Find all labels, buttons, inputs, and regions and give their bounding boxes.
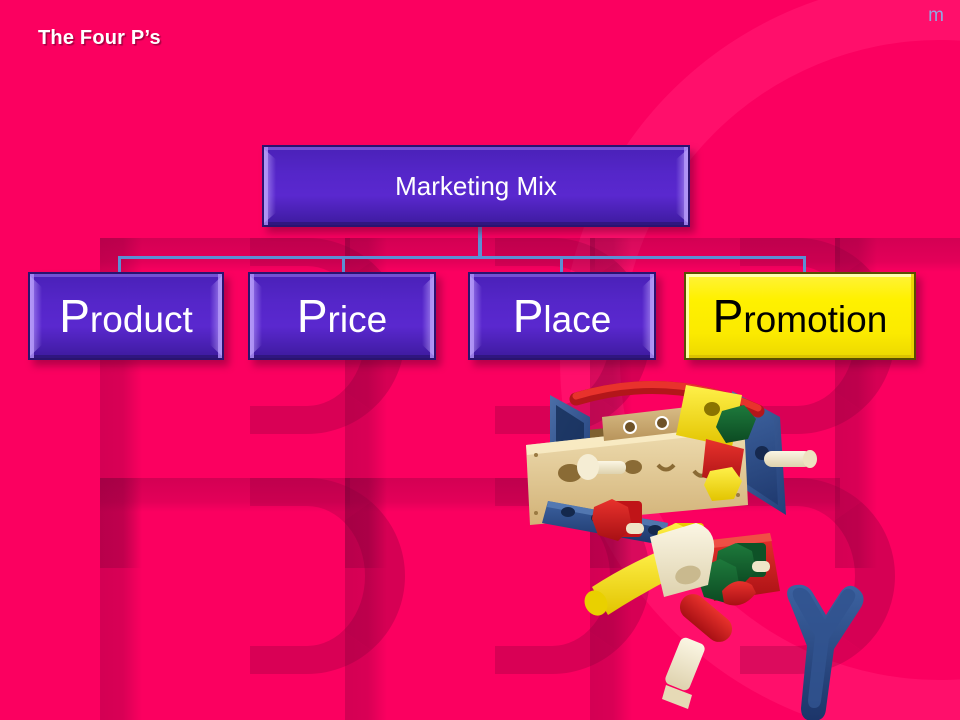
toy-screwdriver — [662, 581, 756, 709]
page-marker: m — [928, 6, 944, 25]
green-bolt — [698, 543, 770, 603]
node-product-label: Product — [59, 293, 193, 339]
toy-toolbox-illustration — [490, 355, 960, 720]
node-marketing-mix[interactable]: Marketing Mix — [262, 145, 690, 227]
connector-horizontal-bus — [118, 256, 806, 259]
dowel-right — [764, 450, 817, 468]
node-promotion-rest: romotion — [743, 301, 887, 338]
blue-plate — [542, 501, 668, 545]
node-price[interactable]: Price — [248, 272, 436, 360]
node-promotion-label: Promotion — [713, 293, 888, 339]
toolbox-body — [526, 384, 817, 525]
node-place-rest: lace — [543, 301, 611, 338]
red-plate — [702, 533, 780, 601]
red-bolt — [592, 499, 644, 541]
node-marketing-mix-label: Marketing Mix — [395, 173, 557, 199]
node-place[interactable]: Place — [468, 272, 656, 360]
yellow-bolt — [656, 523, 708, 565]
node-place-initial: P — [513, 293, 544, 339]
dowel-front — [577, 454, 626, 480]
node-product-initial: P — [59, 293, 90, 339]
watermark-letter-p — [590, 478, 890, 720]
node-product[interactable]: Product — [28, 272, 224, 360]
toy-wrench — [787, 585, 863, 720]
background-arc-inner — [620, 40, 960, 680]
node-product-rest: roduct — [90, 301, 193, 338]
slide-canvas: The Four P’s m Marketing Mix Product Pri… — [0, 0, 960, 720]
background-arc-outer — [560, 0, 960, 720]
background-watermark — [0, 0, 960, 720]
node-price-initial: P — [297, 293, 328, 339]
watermark-letter-p — [345, 478, 645, 720]
node-price-label: Price — [297, 293, 387, 339]
watermark-letter-p — [100, 478, 400, 720]
node-place-label: Place — [513, 293, 612, 339]
node-price-rest: rice — [328, 301, 388, 338]
page-title: The Four P’s — [38, 27, 161, 50]
node-promotion[interactable]: Promotion — [684, 272, 916, 360]
connector-root-vertical — [478, 226, 482, 259]
toy-hammer — [580, 523, 714, 620]
node-promotion-initial: P — [713, 293, 744, 339]
